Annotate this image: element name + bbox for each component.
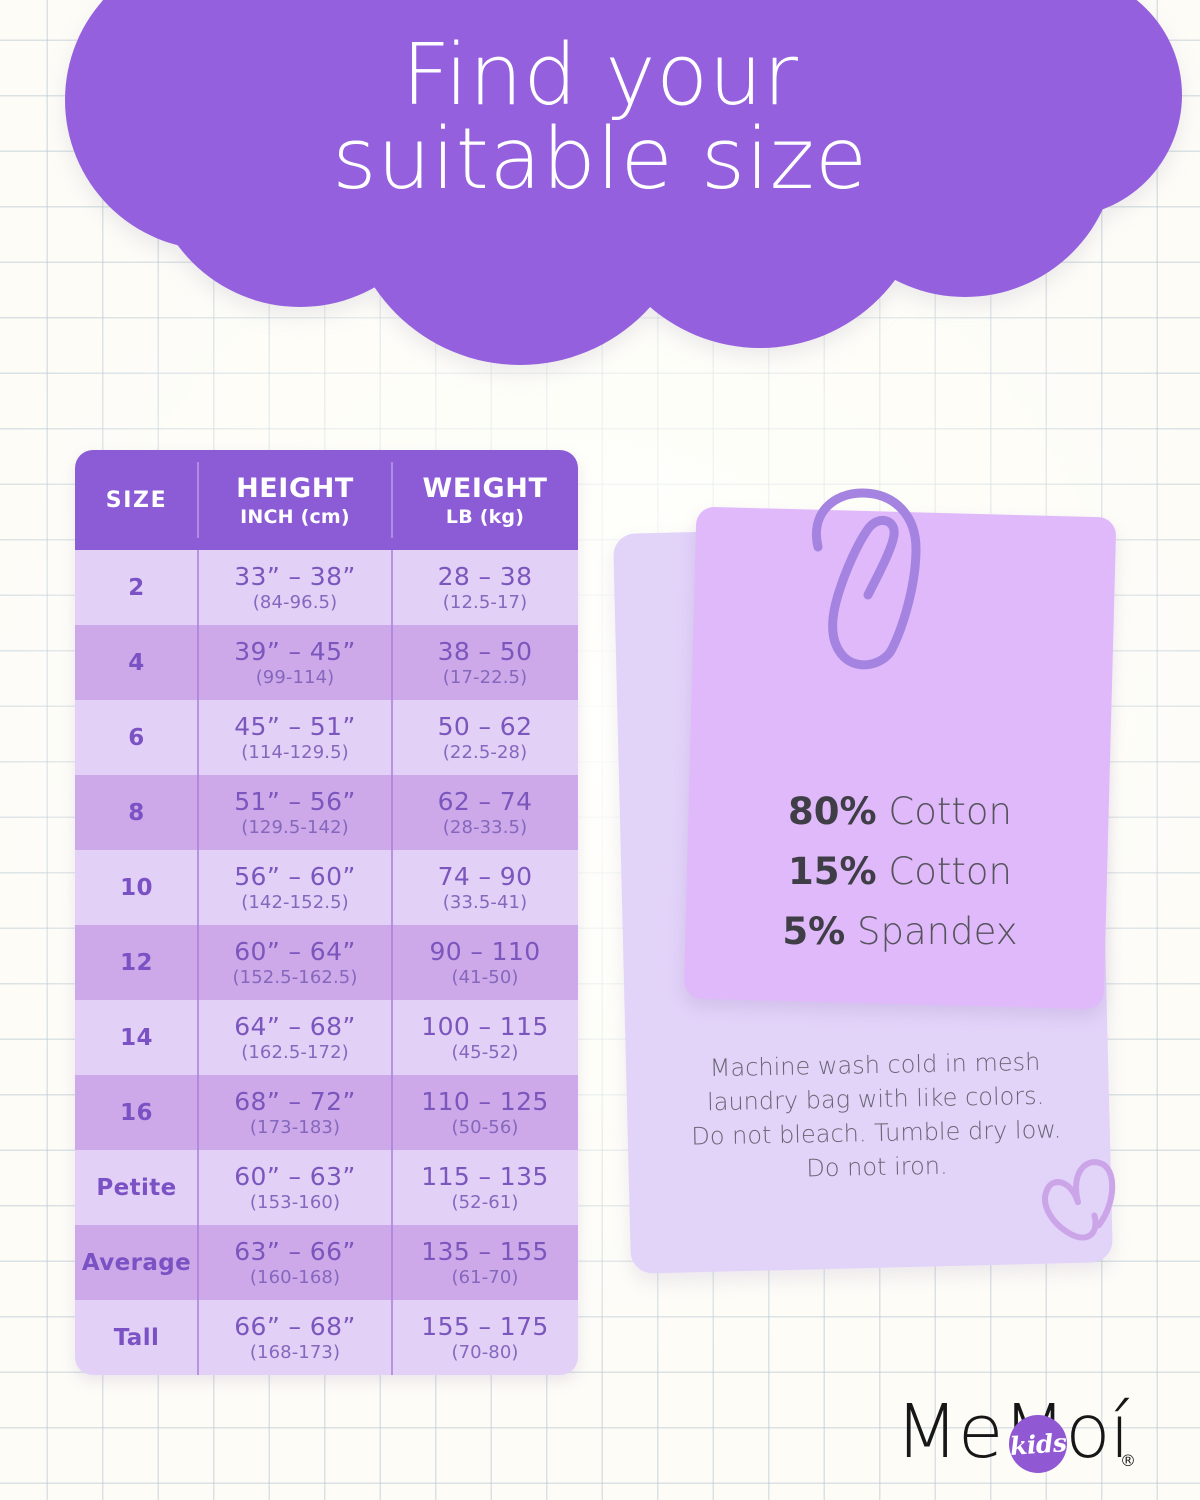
cell-weight: 50 – 62 (22.5-28) <box>392 700 578 775</box>
composition-material: Spandex <box>857 910 1018 953</box>
cell-height: 64” – 68” (162.5-172) <box>198 1000 392 1075</box>
table-row: 6 45” – 51” (114-129.5) 50 – 62 (22.5-28… <box>75 700 578 775</box>
cell-height: 45” – 51” (114-129.5) <box>198 700 392 775</box>
composition-material: Cotton <box>888 850 1012 893</box>
cell-height: 33” – 38” (84-96.5) <box>198 550 392 625</box>
heart-doodle-icon <box>1034 1157 1123 1252</box>
cell-size: 2 <box>75 550 198 625</box>
cell-height: 56” – 60” (142-152.5) <box>198 850 392 925</box>
brand-logo: MeMoí kids ® <box>895 1393 1145 1477</box>
registered-trademark-symbol: ® <box>1120 1451 1136 1470</box>
table-row: Petite 60” – 63” (153-160) 115 – 135 (52… <box>75 1150 578 1225</box>
cell-weight: 155 – 175 (70-80) <box>392 1300 578 1375</box>
cell-height: 60” – 64” (152.5-162.5) <box>198 925 392 1000</box>
cell-weight: 74 – 90 (33.5-41) <box>392 850 578 925</box>
cell-size: 4 <box>75 625 198 700</box>
table-row: 14 64” – 68” (162.5-172) 100 – 115 (45-5… <box>75 1000 578 1075</box>
table-header-row: SIZE HEIGHT INCH (cm) WEIGHT LB (kg) <box>75 450 578 550</box>
table-row: Average 63” – 66” (160-168) 135 – 155 (6… <box>75 1225 578 1300</box>
cell-height: 66” – 68” (168-173) <box>198 1300 392 1375</box>
cell-weight: 135 – 155 (61-70) <box>392 1225 578 1300</box>
cell-weight: 28 – 38 (12.5-17) <box>392 550 578 625</box>
table-row: Tall 66” – 68” (168-173) 155 – 175 (70-8… <box>75 1300 578 1375</box>
cell-size: Tall <box>75 1300 198 1375</box>
composition-item: 80% Cotton <box>788 782 1012 842</box>
composition-percent: 5% <box>782 910 845 953</box>
cell-height: 63” – 66” (160-168) <box>198 1225 392 1300</box>
column-header-size: SIZE <box>75 450 198 550</box>
composition-percent: 80% <box>788 790 877 833</box>
cell-size: 14 <box>75 1000 198 1075</box>
cell-size: 16 <box>75 1075 198 1150</box>
cell-weight: 115 – 135 (52-61) <box>392 1150 578 1225</box>
cell-weight: 62 – 74 (28-33.5) <box>392 775 578 850</box>
table-row: 4 39” – 45” (99-114) 38 – 50 (17-22.5) <box>75 625 578 700</box>
cell-weight: 90 – 110 (41-50) <box>392 925 578 1000</box>
column-header-weight: WEIGHT LB (kg) <box>392 450 578 550</box>
composition-percent: 15% <box>788 850 877 893</box>
cell-size: 6 <box>75 700 198 775</box>
cell-weight: 110 – 125 (50-56) <box>392 1075 578 1150</box>
kids-badge: kids <box>1009 1415 1067 1473</box>
table-row: 8 51” – 56” (129.5-142) 62 – 74 (28-33.5… <box>75 775 578 850</box>
cell-size: Petite <box>75 1150 198 1225</box>
cell-size: 10 <box>75 850 198 925</box>
composition-material: Cotton <box>888 790 1012 833</box>
cell-size: 8 <box>75 775 198 850</box>
composition-item: 15% Cotton <box>788 842 1012 902</box>
cell-weight: 38 – 50 (17-22.5) <box>392 625 578 700</box>
size-chart-table: SIZE HEIGHT INCH (cm) WEIGHT LB (kg) 2 3… <box>75 450 578 1375</box>
cell-size: 12 <box>75 925 198 1000</box>
cell-height: 60” – 63” (153-160) <box>198 1150 392 1225</box>
cell-size: Average <box>75 1225 198 1300</box>
composition-item: 5% Spandex <box>782 902 1017 962</box>
table-row: 10 56” – 60” (142-152.5) 74 – 90 (33.5-4… <box>75 850 578 925</box>
kids-badge-label: kids <box>1009 1428 1067 1461</box>
column-header-height: HEIGHT INCH (cm) <box>198 450 392 550</box>
cell-height: 51” – 56” (129.5-142) <box>198 775 392 850</box>
cell-height: 39” – 45” (99-114) <box>198 625 392 700</box>
paperclip-icon <box>800 487 930 672</box>
table-row: 2 33” – 38” (84-96.5) 28 – 38 (12.5-17) <box>75 550 578 625</box>
table-row: 16 68” – 72” (173-183) 110 – 125 (50-56) <box>75 1075 578 1150</box>
table-row: 12 60” – 64” (152.5-162.5) 90 – 110 (41-… <box>75 925 578 1000</box>
cell-weight: 100 – 115 (45-52) <box>392 1000 578 1075</box>
care-instructions-text: Machine wash cold in mesh laundry bag wi… <box>659 1044 1094 1189</box>
cell-height: 68” – 72” (173-183) <box>198 1075 392 1150</box>
page-title: Find your suitable size <box>0 34 1200 202</box>
